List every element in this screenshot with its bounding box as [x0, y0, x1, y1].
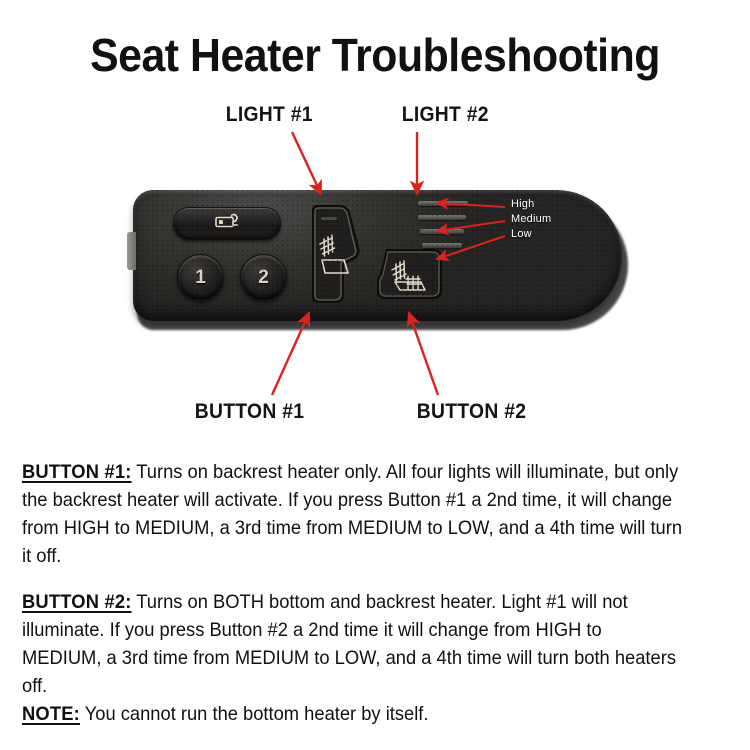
callout-arrows	[0, 90, 750, 435]
arrow-button-1	[272, 313, 309, 395]
instruction-body-note: You cannot run the bottom heater by itse…	[80, 703, 429, 725]
instruction-lead-button-1: BUTTON #1:	[22, 461, 132, 483]
instruction-paragraph-button-1: BUTTON #1: Turns on backrest heater only…	[22, 458, 686, 570]
arrow-medium	[437, 221, 505, 231]
arrow-light-1	[292, 132, 321, 194]
instruction-paragraph-note: NOTE: You cannot run the bottom heater b…	[22, 700, 686, 728]
instruction-paragraph-button-2: BUTTON #2: Turns on BOTH bottom and back…	[22, 588, 686, 700]
seat-heater-diagram: LIGHT #1 LIGHT #2 BUTTON #1 BUTTON #2	[0, 90, 750, 435]
instruction-lead-note: NOTE:	[22, 703, 80, 725]
page-title: Seat Heater Troubleshooting	[26, 28, 724, 82]
arrow-low	[437, 236, 505, 259]
arrow-button-2	[409, 313, 438, 395]
arrow-high	[437, 203, 505, 207]
instruction-lead-button-2: BUTTON #2:	[22, 591, 132, 613]
